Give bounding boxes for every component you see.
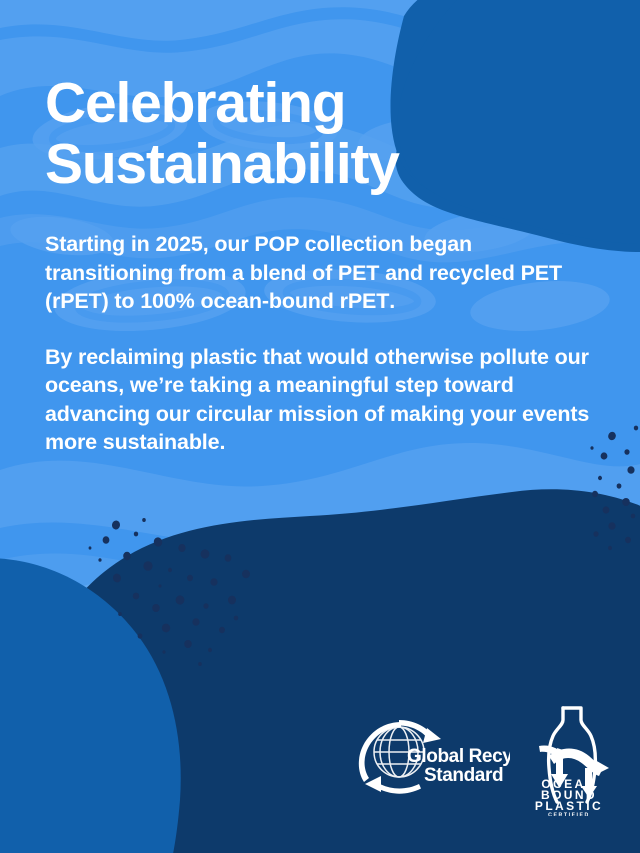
global-recycled-standard-logo: Global Recycled Standard <box>355 718 510 796</box>
paragraph-1-text-after-bold: . <box>389 289 395 313</box>
obp-label-line-4: CERTIFIED <box>548 813 590 817</box>
certification-logos: Global Recycled Standard <box>355 690 620 815</box>
grs-label-line-1: Global Recycled <box>407 746 510 767</box>
paragraph-1-bold-phrase: 100% ocean-bound rPET <box>140 289 389 313</box>
grs-label-line-2: Standard <box>424 765 503 786</box>
headline-line-1: Celebrating <box>45 73 585 134</box>
paragraph-1: Starting in 2025, our POP collection beg… <box>45 230 605 316</box>
headline-line-2: Sustainability <box>45 134 585 195</box>
body-copy: Starting in 2025, our POP collection beg… <box>45 230 605 457</box>
obp-label-line-3: PLASTIC <box>535 799 603 813</box>
paragraph-2: By reclaiming plastic that would otherwi… <box>45 343 605 457</box>
ocean-bound-plastic-logo: OCEAN BOUND PLASTIC CERTIFIED <box>525 698 617 816</box>
sustainability-poster: Celebrating Sustainability Starting in 2… <box>0 0 640 853</box>
page-title: Celebrating Sustainability <box>45 73 585 195</box>
